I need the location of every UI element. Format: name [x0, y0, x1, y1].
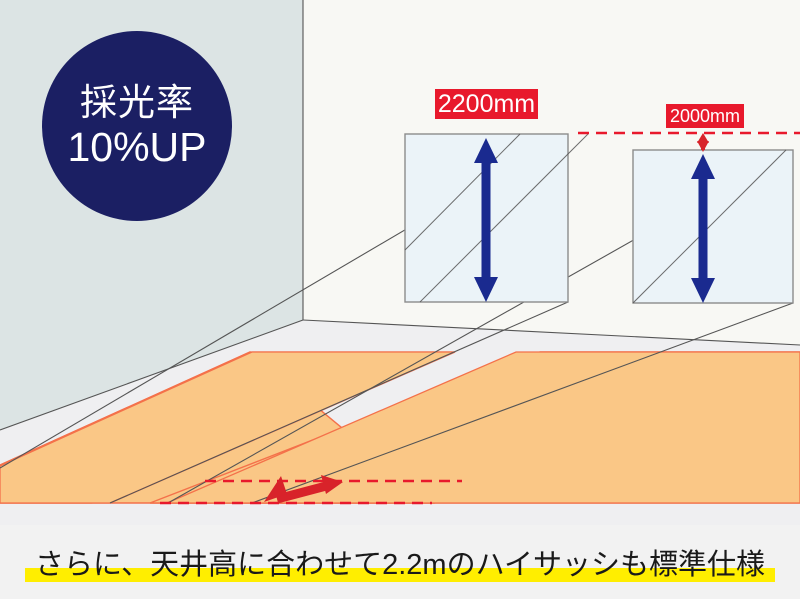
badge-line-1: 採光率 — [80, 84, 194, 121]
dimension-tag-2000mm: 2000mm — [666, 104, 744, 128]
dimension-tag-2200mm: 2200mm — [435, 89, 538, 119]
badge-line-2: 10%UP — [67, 127, 206, 168]
caption: さらに、天井高に合わせて2.2mのハイサッシも標準仕様 — [31, 541, 769, 583]
illustration-slide: 採光率 10%UP 2200mm 2000mm さらに、天井高に合わせて2.2m… — [0, 0, 800, 599]
caption-bar: さらに、天井高に合わせて2.2mのハイサッシも標準仕様 — [0, 525, 800, 599]
caption-text: さらに、天井高に合わせて2.2mのハイサッシも標準仕様 — [35, 549, 765, 581]
daylight-ratio-badge: 採光率 10%UP — [42, 31, 232, 221]
